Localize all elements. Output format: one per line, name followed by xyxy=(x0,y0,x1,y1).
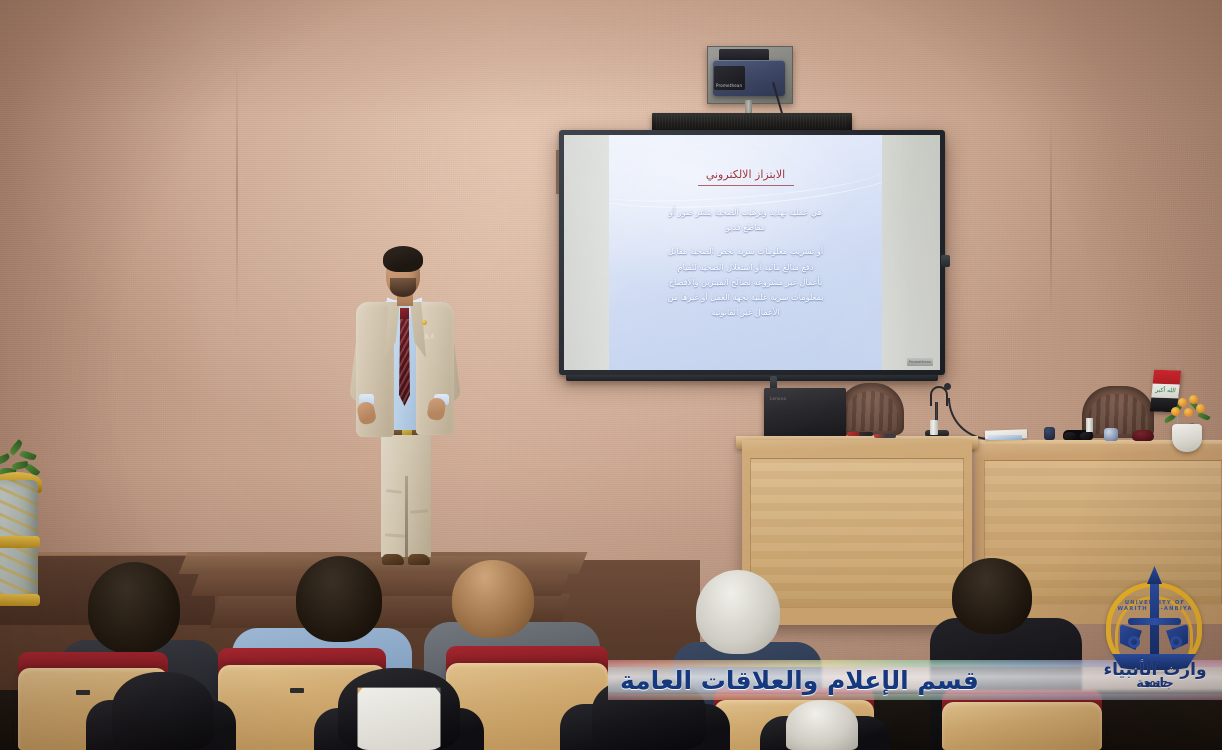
presenter-beard xyxy=(390,278,416,297)
leaf xyxy=(0,453,11,466)
seat-number-tag xyxy=(76,690,90,695)
presenter-shoe-right xyxy=(408,554,430,565)
slide-line-5: بأعمال غير مشروعة لصالح المبتزين والافصا… xyxy=(623,275,868,290)
white-vase xyxy=(1172,424,1202,452)
presenter-shoe-left xyxy=(382,554,404,565)
microphone-capsule xyxy=(944,383,951,390)
attendee-hijab xyxy=(112,672,214,750)
slide-line-4: دفع مبالغ مالية أو استغلال الضحية للقيام xyxy=(623,260,868,275)
attendee-head xyxy=(952,558,1032,634)
leaf xyxy=(1198,412,1211,422)
slide-line-2: مقاطع فديو xyxy=(623,220,868,235)
laptop-brand-label: Lenovo xyxy=(770,396,786,401)
front-desk-panel xyxy=(750,458,964,608)
small-cup-on-desk[interactable] xyxy=(1086,418,1093,432)
vase-gold-band xyxy=(0,594,40,606)
flower-petal xyxy=(1184,408,1193,417)
chair-fabric-folds xyxy=(844,391,898,431)
attendee-head xyxy=(88,562,180,654)
attendee-head xyxy=(786,700,858,750)
slide-title-underline xyxy=(698,185,794,186)
whiteboard-surface: الابتزاز الالكتروني هي عملية تهديد وترهي… xyxy=(564,135,940,370)
logo-ring-left xyxy=(1128,636,1140,648)
logo-year: 2017 xyxy=(1144,680,1167,689)
presenter-tie xyxy=(399,312,410,406)
slide-line-6: بمعلومات سرية علنية بجهة العمل أو غيرها … xyxy=(623,290,868,305)
stage-edge-highlight xyxy=(0,552,600,556)
logo-ring-right xyxy=(1170,636,1182,648)
dark-red-object-on-desk[interactable] xyxy=(1132,430,1154,441)
projected-slide: الابتزاز الالكتروني هي عملية تهديد وترهي… xyxy=(609,135,882,370)
presenter-leg-separation xyxy=(405,476,408,558)
photo-scene: Promethean الابتزاز الالكتروني هي عملية … xyxy=(0,0,1222,750)
flower-petal xyxy=(1196,404,1205,413)
slide-body-text: هي عملية تهديد وترهيب الضحية بنشر صور أو… xyxy=(623,205,868,320)
attendee-head xyxy=(452,560,534,638)
marker-on-desk[interactable] xyxy=(874,434,896,438)
seat-number-tag xyxy=(290,688,304,693)
board-brand-badge: Promethean xyxy=(907,358,933,366)
slide-line-1: هي عملية تهديد وترهيب الضحية بنشر صور أو xyxy=(623,205,868,220)
flower-petal xyxy=(1171,407,1180,416)
attendee-head xyxy=(696,570,780,654)
board-pen-tray[interactable] xyxy=(566,375,938,381)
lapel-pin xyxy=(422,320,427,325)
banner-title: قسم الإعلام والعلاقات العامة xyxy=(620,661,1090,699)
small-device-on-desk[interactable] xyxy=(1044,427,1055,440)
glass-object-on-desk[interactable] xyxy=(1104,428,1118,441)
cup-on-desk[interactable] xyxy=(930,420,938,435)
leaf xyxy=(19,449,36,461)
projector-brand-label: Promethean xyxy=(716,83,742,88)
board-side-knob[interactable] xyxy=(941,255,950,267)
speaker-grille xyxy=(656,115,848,129)
attendee-head xyxy=(296,556,382,642)
slide-line-3: أو تسريب معلومات سرية تخص الضحية مقابل xyxy=(623,244,868,259)
board-unlit-strip-left xyxy=(564,135,609,370)
logo-sword-tip xyxy=(1147,566,1162,584)
university-logo: UNIVERSITY OF WARITH AL-ANBIYA وارث الأن… xyxy=(1100,556,1210,692)
slide-line-7: الأعمال غير القانونية xyxy=(623,305,868,320)
ornate-vase xyxy=(0,448,44,628)
board-unlit-strip-right xyxy=(872,135,940,370)
presenter xyxy=(340,238,470,583)
auditorium-seat[interactable] xyxy=(942,702,1102,750)
flag-red-band xyxy=(1153,370,1182,385)
blue-paper-on-desk[interactable] xyxy=(988,435,1022,440)
chair-fabric-folds xyxy=(1088,394,1148,434)
chair-backrest[interactable] xyxy=(838,383,904,435)
vase-gold-band xyxy=(0,536,40,548)
flower-petal xyxy=(1189,395,1198,404)
interactive-whiteboard[interactable]: الابتزاز الالكتروني هي عملية تهديد وترهي… xyxy=(559,130,945,375)
slide-title: الابتزاز الالكتروني xyxy=(609,168,882,181)
flower-petal xyxy=(1178,398,1187,407)
presenter-hair xyxy=(383,246,423,272)
logo-sword-guard xyxy=(1128,618,1181,625)
pen-on-desk[interactable] xyxy=(847,432,873,436)
